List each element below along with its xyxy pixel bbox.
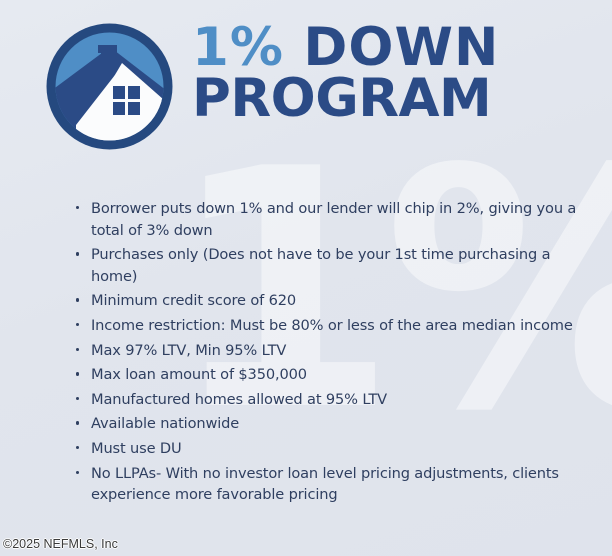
bullet-dot-icon <box>76 323 79 326</box>
list-item-label: Manufactured homes allowed at 95% LTV <box>91 391 387 408</box>
bullet-dot-icon <box>76 446 79 449</box>
list-item-label: Income restriction: Must be 80% or less … <box>91 317 573 334</box>
list-item-label: Must use DU <box>91 440 182 457</box>
title-line-one: 1% DOWN <box>192 24 602 73</box>
bullet-dot-icon <box>76 348 79 351</box>
list-item-label: Available nationwide <box>91 415 239 432</box>
bullet-dot-icon <box>76 206 79 209</box>
list-item-label: Borrower puts down 1% and our lender wil… <box>91 200 576 239</box>
list-item: Purchases only (Does not have to be your… <box>74 244 586 287</box>
list-item: Available nationwide <box>74 413 586 435</box>
list-item: Income restriction: Must be 80% or less … <box>74 315 586 337</box>
bullet-dot-icon <box>76 397 79 400</box>
bullet-dot-icon <box>76 298 79 301</box>
list-item: Minimum credit score of 620 <box>74 290 586 312</box>
copyright-notice: ©2025 NEFMLS, Inc <box>3 537 118 551</box>
list-item: Must use DU <box>74 438 586 460</box>
bullet-dot-icon <box>76 372 79 375</box>
title-line-two: PROGRAM <box>192 75 602 124</box>
one-percent-down-program-flyer: 1% <box>0 0 612 556</box>
list-item: Max loan amount of $350,000 <box>74 364 586 386</box>
list-item-label: Minimum credit score of 620 <box>91 292 296 309</box>
program-details-list: Borrower puts down 1% and our lender wil… <box>74 198 586 509</box>
list-item: Borrower puts down 1% and our lender wil… <box>74 198 586 241</box>
bullet-dot-icon <box>76 252 79 255</box>
list-item: No LLPAs- With no investor loan level pr… <box>74 463 586 506</box>
list-item-label: Purchases only (Does not have to be your… <box>91 246 550 285</box>
list-item-label: Max loan amount of $350,000 <box>91 366 307 383</box>
bullet-dot-icon <box>76 421 79 424</box>
logo-svg <box>44 21 175 152</box>
bullet-dot-icon <box>76 471 79 474</box>
house-in-circle-icon <box>44 21 175 152</box>
list-item: Manufactured homes allowed at 95% LTV <box>74 389 586 411</box>
list-item-label: No LLPAs- With no investor loan level pr… <box>91 465 559 504</box>
list-item: Max 97% LTV, Min 95% LTV <box>74 340 586 362</box>
list-item-label: Max 97% LTV, Min 95% LTV <box>91 342 286 359</box>
page-title: 1% DOWN PROGRAM <box>192 24 602 124</box>
header: 1% DOWN PROGRAM <box>0 0 612 166</box>
